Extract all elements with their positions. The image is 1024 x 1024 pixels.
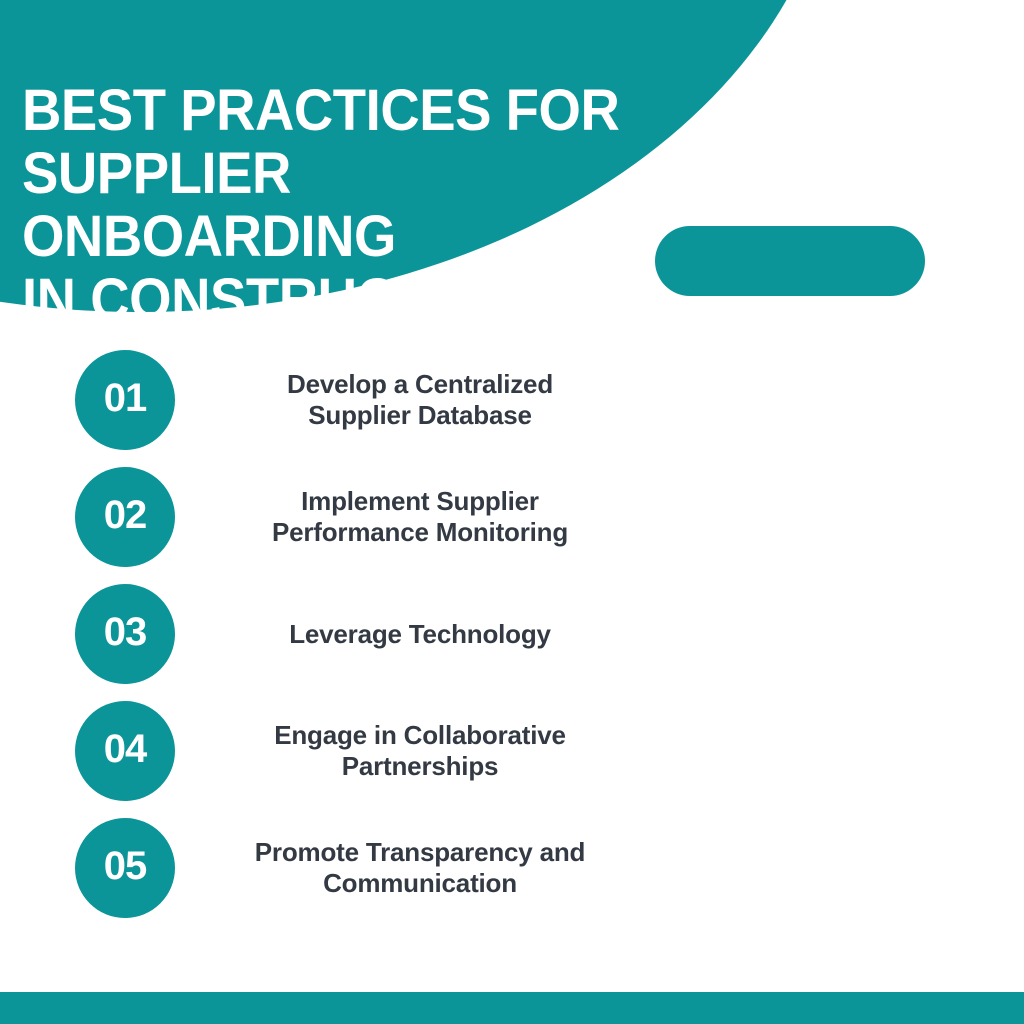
list-item: 01 Develop a Centralized Supplier Databa… <box>0 350 1024 467</box>
list-item: 02 Implement Supplier Performance Monito… <box>0 467 1024 584</box>
step-label: Engage in Collaborative Partnerships <box>200 701 640 801</box>
step-label: Implement Supplier Performance Monitorin… <box>200 467 640 567</box>
step-label: Promote Transparency and Communication <box>200 818 640 918</box>
page-title: BEST PRACTICES FOR SUPPLIER ONBOARDING I… <box>22 79 661 331</box>
step-number-badge: 01 <box>75 350 175 450</box>
teal-rounded-pill <box>655 226 925 296</box>
steps-list: 01 Develop a Centralized Supplier Databa… <box>0 350 1024 935</box>
step-label: Leverage Technology <box>200 584 640 684</box>
step-number-badge: 02 <box>75 467 175 567</box>
teal-footer-bar <box>0 992 1024 1024</box>
list-item: 05 Promote Transparency and Communicatio… <box>0 818 1024 935</box>
step-number-badge: 03 <box>75 584 175 684</box>
infographic-poster: BEST PRACTICES FOR SUPPLIER ONBOARDING I… <box>0 0 1024 1024</box>
list-item: 03 Leverage Technology <box>0 584 1024 701</box>
step-number-badge: 05 <box>75 818 175 918</box>
list-item: 04 Engage in Collaborative Partnerships <box>0 701 1024 818</box>
step-label: Develop a Centralized Supplier Database <box>200 350 640 450</box>
step-number-badge: 04 <box>75 701 175 801</box>
